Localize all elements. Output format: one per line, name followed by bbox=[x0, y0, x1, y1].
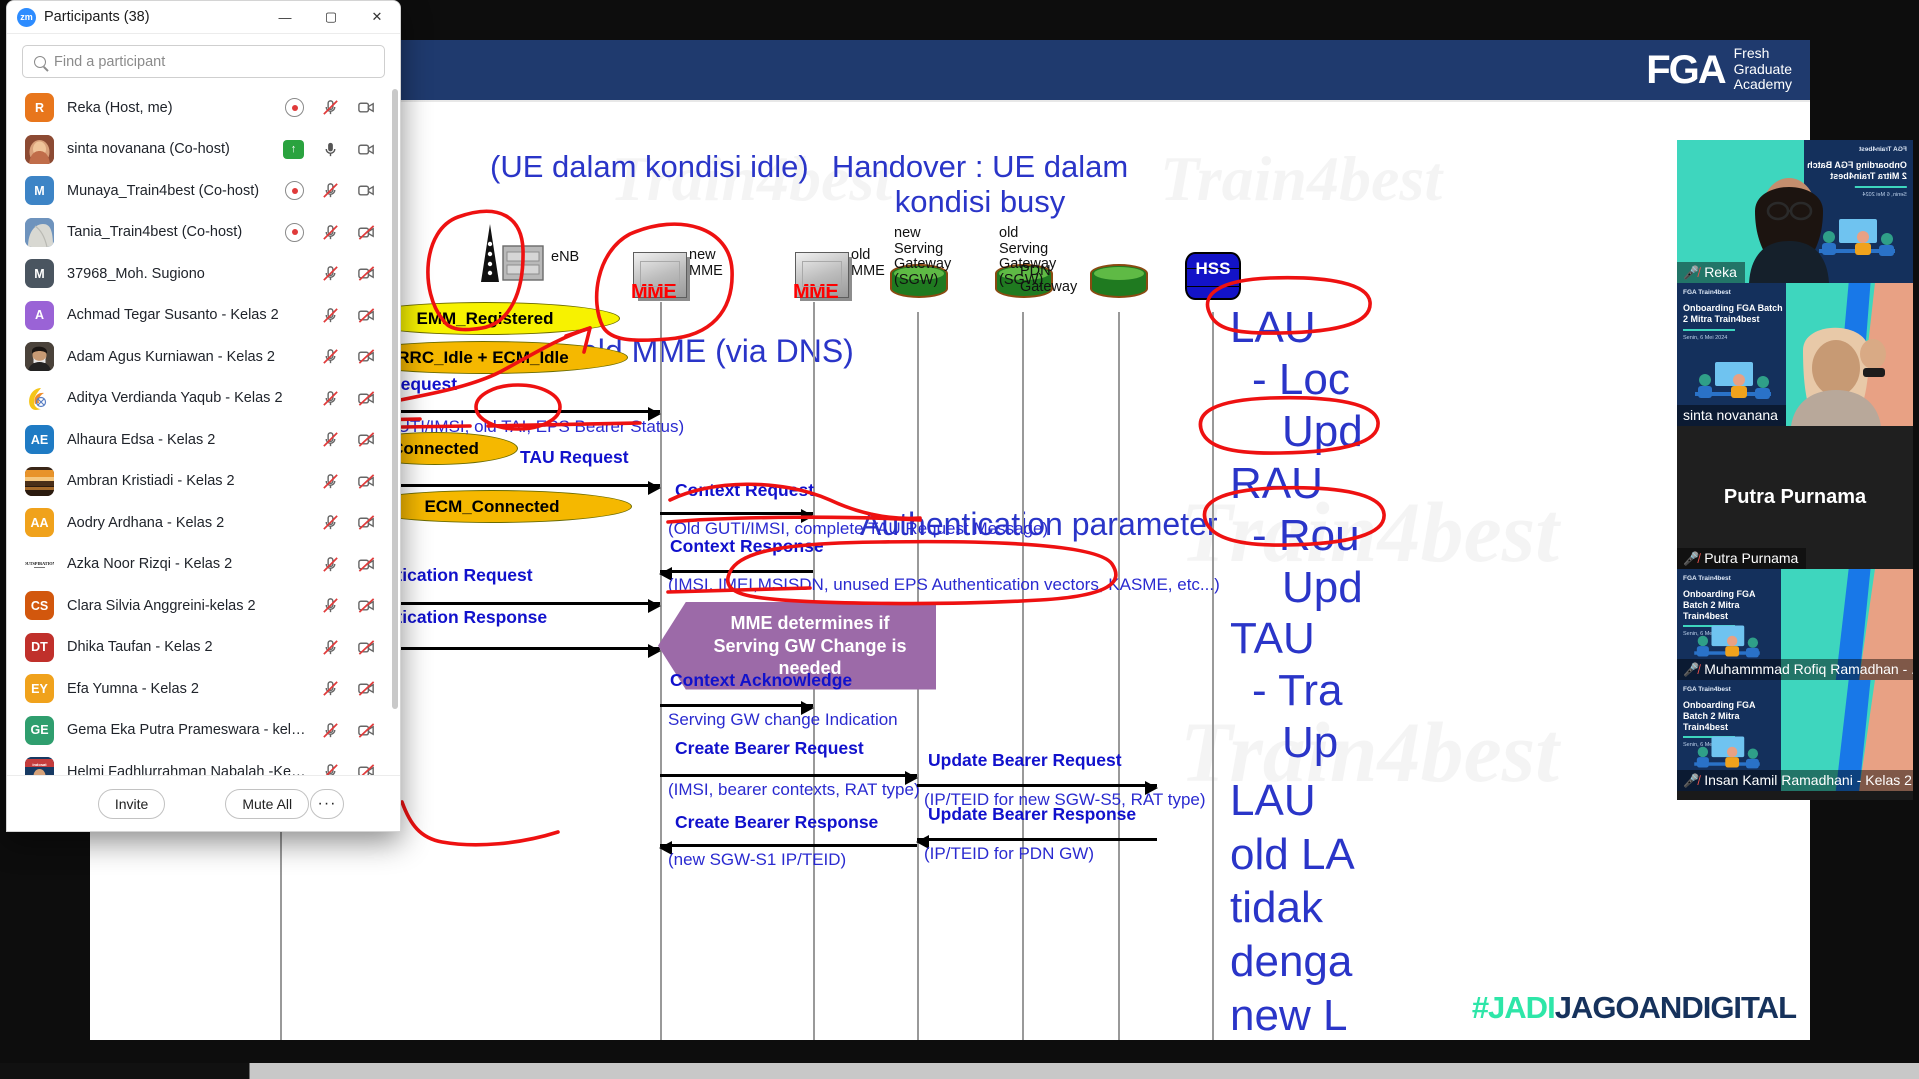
fga-logo-subtitle: Fresh Graduate Academy bbox=[1734, 46, 1792, 93]
maximize-button[interactable]: ▢ bbox=[308, 1, 354, 34]
message-label: entication Response bbox=[376, 607, 547, 628]
avatar-photo: indosat bbox=[25, 757, 54, 775]
header-handover: Handover : UE dalam kondisi busy bbox=[830, 150, 1130, 219]
avatar-initials: CS bbox=[31, 599, 48, 613]
window-controls: — ▢ ✕ bbox=[262, 1, 400, 34]
node-enb: eNB bbox=[465, 222, 575, 293]
mic-muted-icon[interactable] bbox=[321, 513, 340, 532]
avatar bbox=[25, 135, 54, 164]
participant-row[interactable]: Adam Agus Kurniawan - Kelas 2 bbox=[7, 336, 400, 378]
raise-hand-icon[interactable]: ↑ bbox=[283, 140, 304, 159]
zoom-meeting-screen: FGA Fresh Graduate Academy Train4best Tr… bbox=[0, 0, 1919, 1079]
taskbar-strip bbox=[0, 1063, 1919, 1079]
message-arrow bbox=[660, 844, 917, 847]
tile-name-bar: sinta novanana bbox=[1677, 405, 1786, 426]
annotation-up: Up bbox=[1230, 717, 1363, 769]
annotation-denga: denga bbox=[1230, 935, 1355, 989]
avatar: CS bbox=[25, 591, 54, 620]
camera-off-icon[interactable] bbox=[357, 555, 376, 574]
mic-muted-icon[interactable] bbox=[321, 472, 340, 491]
card-rule bbox=[1683, 329, 1735, 331]
avatar bbox=[25, 384, 54, 413]
fga-logo-line1: Fresh bbox=[1734, 46, 1792, 62]
node-label-new-mme: newMME bbox=[689, 248, 739, 279]
participant-name: Aodry Ardhana - Kelas 2 bbox=[67, 515, 224, 531]
tile-name-bar: 🎤̸ Reka bbox=[1677, 262, 1745, 283]
message-arrow bbox=[917, 838, 1157, 841]
search-area: Find a participant bbox=[7, 34, 400, 87]
mic-muted-icon[interactable] bbox=[321, 555, 340, 574]
participants-window[interactable]: zm Participants (38) — ▢ ✕ Find a partic… bbox=[6, 0, 401, 832]
mic-muted-icon[interactable] bbox=[321, 306, 340, 325]
avatar-initials: DT bbox=[31, 640, 48, 654]
message-params: (new SGW-S1 IP/TEID) bbox=[668, 850, 846, 870]
avatar-initials: M bbox=[34, 184, 44, 198]
camera-off-icon[interactable] bbox=[357, 638, 376, 657]
avatar: R bbox=[25, 93, 54, 122]
camera-off-icon[interactable] bbox=[357, 306, 376, 325]
mme-box-icon: MME bbox=[795, 252, 849, 298]
participants-scrollbar[interactable] bbox=[392, 89, 398, 709]
participant-name: Dhika Taufan - Kelas 2 bbox=[67, 639, 213, 655]
participant-icons bbox=[321, 264, 390, 283]
avatar-initials: GE bbox=[30, 723, 48, 737]
tile-participant-name: Insan Kamil Ramadhani - Kelas 2 bbox=[1704, 772, 1912, 788]
svg-text:OUTSPIRATION: OUTSPIRATION bbox=[25, 561, 54, 566]
hashtag-part1: #JADI bbox=[1472, 990, 1555, 1025]
mic-muted-icon[interactable] bbox=[321, 223, 340, 242]
annotation-rau: RAU bbox=[1230, 458, 1363, 510]
avatar-photo bbox=[25, 218, 54, 247]
mic-muted-icon: 🎤̸ bbox=[1683, 663, 1699, 676]
participant-video-person bbox=[1771, 316, 1901, 426]
participant-icons bbox=[321, 347, 390, 366]
node-old-mme: MME oldMME bbox=[795, 252, 849, 298]
participant-name: Gema Eka Putra Prameswara - kelas 2 bbox=[67, 722, 308, 738]
hss-cylinder-icon: HSS bbox=[1185, 252, 1241, 300]
participant-name: Aditya Verdianda Yaqub - Kelas 2 bbox=[67, 390, 283, 406]
minimize-button[interactable]: — bbox=[262, 1, 308, 34]
card-brand-row: FGA Train4best bbox=[1683, 289, 1787, 296]
annotation-tau: TAU bbox=[1230, 613, 1363, 665]
mic-muted-icon[interactable] bbox=[321, 181, 340, 200]
mic-muted-icon: 🎤̸ bbox=[1683, 266, 1699, 279]
tile-participant-name: sinta novanana bbox=[1683, 407, 1778, 423]
video-tile-insan-kamil-ramadhani[interactable]: FGA Train4best Onboarding FGA Batch 2 Mi… bbox=[1677, 680, 1913, 791]
participant-row[interactable]: EY Efa Yumna - Kelas 2 bbox=[7, 668, 400, 710]
avatar-photo bbox=[25, 342, 54, 371]
participant-icons bbox=[321, 596, 390, 615]
participant-name: Ambran Kristiadi - Kelas 2 bbox=[67, 473, 235, 489]
annotation-rou: - Rou bbox=[1230, 510, 1363, 562]
avatar: A bbox=[25, 301, 54, 330]
participant-row[interactable]: GE Gema Eka Putra Prameswara - kelas 2 bbox=[7, 710, 400, 752]
participant-row[interactable]: Aditya Verdianda Yaqub - Kelas 2 bbox=[7, 378, 400, 420]
message-label: Context Acknowledge bbox=[670, 670, 852, 691]
participant-video-person bbox=[1729, 171, 1849, 283]
card-title: Onboarding FGA Batch 2 Mitra Train4best bbox=[1683, 700, 1782, 732]
participants-list[interactable]: R Reka (Host, me) sinta novanana (Co-hos… bbox=[7, 87, 400, 775]
message-arrow bbox=[660, 512, 813, 515]
mic-muted-icon[interactable] bbox=[321, 389, 340, 408]
avatar-initials: EY bbox=[31, 682, 48, 696]
fga-logo-mark: FGA bbox=[1646, 50, 1724, 90]
camera-off-icon[interactable] bbox=[357, 389, 376, 408]
participant-icons bbox=[321, 389, 390, 408]
participant-name: sinta novanana (Co-host) bbox=[67, 141, 230, 157]
participant-name: Azka Noor Rizqi - Kelas 2 bbox=[67, 556, 232, 572]
avatar: M bbox=[25, 176, 54, 205]
participant-row[interactable]: M 37968_Moh. Sugiono bbox=[7, 253, 400, 295]
search-placeholder: Find a participant bbox=[54, 54, 165, 70]
participant-icons bbox=[285, 223, 390, 242]
avatar: M bbox=[25, 259, 54, 288]
avatar: GE bbox=[25, 716, 54, 745]
node-pdn-gateway: PDNGateway bbox=[1090, 264, 1148, 298]
message-label: Create Bearer Request bbox=[675, 738, 864, 759]
card-brand-row: FGA Train4best bbox=[1683, 575, 1782, 582]
node-label-pdn-gw: PDNGateway bbox=[1020, 264, 1094, 295]
camera-off-icon[interactable] bbox=[357, 472, 376, 491]
record-icon[interactable] bbox=[285, 223, 304, 242]
mic-muted-icon[interactable] bbox=[321, 596, 340, 615]
message-params: (IP/TEID for PDN GW) bbox=[924, 844, 1094, 864]
annotation-lau: LAU bbox=[1230, 302, 1363, 354]
avatar-initials: R bbox=[35, 101, 44, 115]
participant-icons bbox=[321, 762, 390, 775]
message-arrow bbox=[917, 784, 1157, 787]
message-label: Update Bearer Request bbox=[928, 750, 1122, 771]
tile-display-name: Putra Purnama bbox=[1724, 486, 1866, 509]
participants-window-title: Participants (38) bbox=[44, 9, 150, 25]
camera-off-icon[interactable] bbox=[357, 264, 376, 283]
participant-name: Efa Yumna - Kelas 2 bbox=[67, 681, 199, 697]
participants-titlebar: zm Participants (38) — ▢ ✕ bbox=[7, 1, 400, 34]
avatar-initials: AA bbox=[30, 516, 48, 530]
message-arrow bbox=[660, 570, 813, 573]
card-title: Onboarding FGA Batch 2 Mitra Train4best bbox=[1683, 589, 1782, 621]
camera-off-icon[interactable] bbox=[357, 223, 376, 242]
avatar-initials: M bbox=[34, 267, 44, 281]
avatar-photo bbox=[25, 384, 54, 413]
camera-off-icon[interactable] bbox=[357, 347, 376, 366]
participant-icons bbox=[321, 513, 390, 532]
video-tile-putra-purnama[interactable]: Putra Purnama 🎤̸ Putra Purnama bbox=[1677, 426, 1913, 569]
participant-row[interactable]: M Munaya_Train4best (Co-host) bbox=[7, 170, 400, 212]
participant-row[interactable]: CS Clara Silvia Anggreini-kelas 2 bbox=[7, 585, 400, 627]
zoom-app-icon: zm bbox=[17, 8, 36, 27]
mic-muted-icon[interactable] bbox=[321, 98, 340, 117]
lifeline-old-sgw bbox=[1022, 312, 1024, 1040]
svg-text:indosat: indosat bbox=[32, 762, 47, 767]
mute-all-button[interactable]: Mute All bbox=[225, 789, 309, 819]
search-input[interactable]: Find a participant bbox=[22, 45, 385, 78]
participant-row[interactable]: AE Alhaura Edsa - Kelas 2 bbox=[7, 419, 400, 461]
search-icon bbox=[34, 56, 46, 68]
mic-muted-icon: 🎤̸ bbox=[1683, 774, 1699, 787]
participant-name: Alhaura Edsa - Kelas 2 bbox=[67, 432, 215, 448]
annotation-lau2: LAU bbox=[1230, 774, 1355, 828]
lifeline-pdn-gw bbox=[1118, 312, 1120, 1040]
tile-participant-name: Reka bbox=[1704, 264, 1737, 280]
video-thumbnail-strip[interactable]: FGA Train4best Onboarding FGA Batch 2 Mi… bbox=[1677, 140, 1913, 800]
camera-on-icon[interactable] bbox=[357, 181, 376, 200]
card-brand-row: FGA Train4best bbox=[1683, 686, 1782, 693]
hashtag-part2: JAGOANDIGITAL bbox=[1555, 990, 1796, 1025]
hashtag-badge: #JADIJAGOANDIGITAL bbox=[1472, 990, 1796, 1026]
mic-muted-icon[interactable] bbox=[321, 679, 340, 698]
more-options-button[interactable]: ··· bbox=[310, 789, 344, 819]
participant-row[interactable]: R Reka (Host, me) bbox=[7, 87, 400, 129]
invite-button[interactable]: Invite bbox=[98, 789, 165, 819]
participant-icons bbox=[321, 721, 390, 740]
participant-icons bbox=[285, 98, 390, 117]
mic-muted-icon[interactable] bbox=[321, 430, 340, 449]
avatar: EY bbox=[25, 674, 54, 703]
mic-on-icon[interactable] bbox=[321, 140, 340, 159]
participant-row[interactable]: DT Dhika Taufan - Kelas 2 bbox=[7, 627, 400, 669]
avatar bbox=[25, 342, 54, 371]
mic-muted-icon[interactable] bbox=[321, 347, 340, 366]
camera-off-icon[interactable] bbox=[357, 762, 376, 775]
card-brand-row: FGA Train4best bbox=[1803, 146, 1907, 153]
mic-muted-icon[interactable] bbox=[321, 762, 340, 775]
watermark: Train4best bbox=[1160, 142, 1442, 216]
participant-name: Clara Silvia Anggreini-kelas 2 bbox=[67, 598, 256, 614]
message-label: Update Bearer Response bbox=[928, 804, 1136, 825]
avatar-initials: AE bbox=[31, 433, 48, 447]
participant-name: Helmi Fadhlurrahman Nabalah -Kelas 2 bbox=[67, 764, 308, 775]
record-icon[interactable] bbox=[285, 98, 304, 117]
avatar bbox=[25, 218, 54, 247]
message-params: (IMSI, IMEI,MSISDN, unused EPS Authentic… bbox=[668, 575, 1220, 595]
avatar: DT bbox=[25, 633, 54, 662]
tile-name-bar: 🎤̸ Muhammmad Rofiq Ramadhan - ... bbox=[1677, 659, 1913, 680]
avatar-photo: OUTSPIRATION bbox=[25, 550, 54, 579]
avatar: AE bbox=[25, 425, 54, 454]
camera-on-icon[interactable] bbox=[357, 98, 376, 117]
card-rule bbox=[1855, 186, 1907, 188]
gateway-cylinder-icon bbox=[1090, 264, 1148, 298]
message-label: TAU Request bbox=[520, 447, 629, 468]
message-arrow bbox=[660, 704, 813, 707]
annotation-oldla: old LA bbox=[1230, 828, 1355, 882]
header-idle: (UE dalam kondisi idle) bbox=[490, 150, 809, 185]
tile-name-bar: 🎤̸ Insan Kamil Ramadhani - Kelas 2 bbox=[1677, 770, 1913, 791]
participant-row[interactable]: Ambran Kristiadi - Kelas 2 bbox=[7, 461, 400, 503]
participant-name: 37968_Moh. Sugiono bbox=[67, 266, 205, 282]
mme-tag: MME bbox=[793, 281, 838, 304]
participant-name: Munaya_Train4best (Co-host) bbox=[67, 183, 259, 199]
avatar bbox=[25, 467, 54, 496]
mic-muted-icon: 🎤̸ bbox=[1683, 552, 1699, 565]
avatar: OUTSPIRATION bbox=[25, 550, 54, 579]
video-tile-reka[interactable]: FGA Train4best Onboarding FGA Batch 2 Mi… bbox=[1677, 140, 1913, 283]
camera-off-icon[interactable] bbox=[357, 596, 376, 615]
participant-row[interactable]: OUTSPIRATION Azka Noor Rizqi - Kelas 2 bbox=[7, 544, 400, 586]
participant-row[interactable]: sinta novanana (Co-host) ↑ bbox=[7, 129, 400, 171]
avatar-photo bbox=[25, 467, 54, 496]
node-label-enb: eNB bbox=[551, 250, 579, 266]
node-label-hss: HSS bbox=[1196, 259, 1231, 279]
lifeline-hss bbox=[1212, 312, 1214, 1040]
avatar: AA bbox=[25, 508, 54, 537]
participant-name: Achmad Tegar Susanto - Kelas 2 bbox=[67, 307, 279, 323]
mme-tag: MME bbox=[631, 281, 676, 304]
participant-row[interactable]: indosat Helmi Fadhlurrahman Nabalah -Kel… bbox=[7, 751, 400, 775]
participant-icons bbox=[321, 472, 390, 491]
annotation-newl: new L bbox=[1230, 989, 1355, 1040]
participant-row[interactable]: AA Aodry Ardhana - Kelas 2 bbox=[7, 502, 400, 544]
camera-off-icon[interactable] bbox=[357, 513, 376, 532]
participant-row[interactable]: A Achmad Tegar Susanto - Kelas 2 bbox=[7, 295, 400, 337]
mic-muted-icon[interactable] bbox=[321, 638, 340, 657]
participant-name: Reka (Host, me) bbox=[67, 100, 173, 116]
message-label: Context Response bbox=[670, 536, 824, 557]
participant-icons bbox=[321, 555, 390, 574]
tile-name-bar: 🎤̸ Putra Purnama bbox=[1677, 548, 1806, 569]
close-button[interactable]: ✕ bbox=[354, 1, 400, 34]
participant-icons bbox=[321, 430, 390, 449]
tile-participant-name: Putra Purnama bbox=[1704, 550, 1798, 566]
message-arrow bbox=[660, 774, 917, 777]
annotation-tra: - Tra bbox=[1230, 665, 1363, 717]
annotation-upd: Upd bbox=[1230, 406, 1363, 458]
participant-name: Tania_Train4best (Co-host) bbox=[67, 224, 242, 240]
fga-logo-line3: Academy bbox=[1734, 77, 1792, 93]
node-label-new-sgw: newServingGateway(SGW) bbox=[894, 226, 974, 289]
video-tile-muhammmad-rofiq-ramadhan[interactable]: FGA Train4best Onboarding FGA Batch 2 Mi… bbox=[1677, 569, 1913, 680]
camera-off-icon[interactable] bbox=[357, 430, 376, 449]
annotation-loc: - Loc bbox=[1230, 354, 1363, 406]
message-label: Create Bearer Response bbox=[675, 812, 878, 833]
node-new-mme: MME newMME bbox=[633, 252, 687, 298]
avatar-initials: A bbox=[35, 308, 44, 322]
record-icon[interactable] bbox=[285, 181, 304, 200]
participant-icons bbox=[321, 306, 390, 325]
participant-icons bbox=[285, 181, 390, 200]
annotation-upd2: Upd bbox=[1230, 562, 1363, 614]
fga-logo-line2: Graduate bbox=[1734, 62, 1792, 78]
participant-icons bbox=[321, 638, 390, 657]
annotation-tidak: tidak bbox=[1230, 881, 1355, 935]
participant-name: Adam Agus Kurniawan - Kelas 2 bbox=[67, 349, 275, 365]
participant-icons bbox=[321, 679, 390, 698]
camera-on-icon[interactable] bbox=[357, 140, 376, 159]
message-label: Context Request bbox=[675, 480, 814, 501]
camera-off-icon[interactable] bbox=[357, 721, 376, 740]
participant-icons: ↑ bbox=[283, 140, 390, 159]
node-new-sgw: newServingGateway(SGW) bbox=[890, 264, 948, 298]
tile-participant-name: Muhammmad Rofiq Ramadhan - ... bbox=[1704, 661, 1913, 677]
avatar-photo bbox=[25, 135, 54, 164]
camera-off-icon[interactable] bbox=[357, 679, 376, 698]
mic-muted-icon[interactable] bbox=[321, 721, 340, 740]
participant-row[interactable]: Tania_Train4best (Co-host) bbox=[7, 212, 400, 254]
message-params: (IMSI, bearer contexts, RAT type) bbox=[668, 780, 920, 800]
message-params: ent GUTI/IMSI, old TAI, EPS Bearer Statu… bbox=[356, 417, 684, 437]
node-hss: HSS bbox=[1185, 252, 1241, 300]
message-params: Serving GW change Indication bbox=[668, 710, 898, 730]
fga-logo: FGA Fresh Graduate Academy bbox=[1646, 46, 1792, 93]
avatar: indosat bbox=[25, 757, 54, 775]
participants-footer: Invite Mute All ··· bbox=[7, 775, 400, 831]
mme-box-icon: MME bbox=[633, 252, 687, 298]
mic-muted-icon[interactable] bbox=[321, 264, 340, 283]
video-tile-sinta-novanana[interactable]: FGA Train4best Onboarding FGA Batch 2 Mi… bbox=[1677, 283, 1913, 426]
